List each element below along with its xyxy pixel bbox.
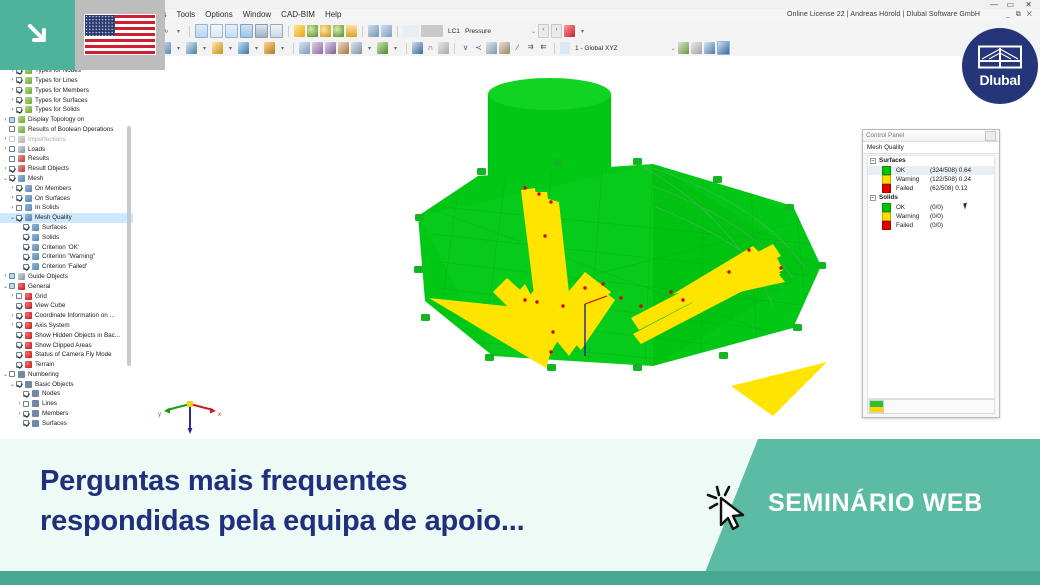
tree-expand-icon[interactable]: › bbox=[16, 401, 23, 407]
tree-checkbox[interactable] bbox=[16, 205, 22, 211]
tree-item-criterion-ok[interactable]: Criterion 'OK' bbox=[0, 242, 133, 252]
tree-item-label: Display Topology on bbox=[28, 116, 84, 123]
tree-checkbox[interactable] bbox=[23, 224, 29, 230]
toolbar-separator bbox=[288, 26, 289, 37]
load-case-dropdown-icon[interactable]: ⌄ bbox=[531, 28, 536, 35]
tree-checkbox[interactable] bbox=[23, 411, 29, 417]
grn-icon bbox=[18, 116, 25, 123]
dlubal-frame-icon bbox=[977, 45, 1023, 71]
heart-icon bbox=[25, 312, 32, 319]
tree-checkbox[interactable] bbox=[9, 146, 15, 152]
tree-item-label: Surfaces bbox=[42, 224, 67, 231]
tree-checkbox[interactable] bbox=[9, 136, 15, 142]
new-surface-dropdown-icon[interactable]: ▾ bbox=[251, 42, 262, 54]
heart-icon bbox=[25, 361, 32, 368]
tree-item-label: In Solids bbox=[35, 204, 59, 211]
legend-color-swatch bbox=[882, 203, 891, 212]
license-info: Online License 22 | Andreas Hörold | Dlu… bbox=[787, 11, 980, 18]
legend-row-value: (0/0) bbox=[930, 213, 943, 220]
pin-icon bbox=[18, 273, 25, 280]
new-solid-icon[interactable] bbox=[264, 42, 275, 54]
new-member-dropdown-icon[interactable]: ▾ bbox=[225, 42, 236, 54]
tree-item-types-for-surfaces[interactable]: ›Types for Surfaces bbox=[0, 95, 133, 105]
tree-item-in-solids[interactable]: ›In Solids bbox=[0, 203, 133, 213]
menu-item-options[interactable]: Options bbox=[205, 10, 233, 19]
tree-expand-icon[interactable]: › bbox=[9, 322, 16, 328]
click-cursor-icon bbox=[706, 481, 760, 535]
legend-color-swatch bbox=[882, 212, 891, 221]
tree-item-label: Results bbox=[28, 155, 49, 162]
tree-item-mesh[interactable]: ⌄Mesh bbox=[0, 174, 133, 184]
tree-item-imperfections[interactable]: ›Imperfections bbox=[0, 134, 133, 144]
mesh-icon bbox=[32, 234, 39, 241]
tree-checkbox[interactable] bbox=[16, 352, 22, 358]
surface-release-dropdown-icon[interactable]: ▾ bbox=[364, 42, 375, 54]
tree-item-label: Status of Camera Fly Mode bbox=[35, 351, 112, 358]
tree-item-label: Lines bbox=[42, 400, 57, 407]
next-loadcase-icon[interactable]: › bbox=[551, 24, 562, 38]
toolbar-primary-items: ∿ ▾ LC1 Pressure ⌄ ‹ › bbox=[160, 24, 588, 38]
loads-display-icon[interactable] bbox=[564, 25, 575, 37]
ucs-icon[interactable] bbox=[678, 42, 689, 54]
tree-item-status-of-camera-fly-mode[interactable]: Status of Camera Fly Mode bbox=[0, 350, 133, 360]
copy-icon[interactable] bbox=[486, 42, 497, 54]
snap-settings-icon[interactable] bbox=[704, 42, 715, 54]
new-line-icon[interactable] bbox=[186, 42, 197, 54]
num-icon bbox=[32, 420, 39, 427]
tree-item-numbering[interactable]: ⌄Numbering bbox=[0, 370, 133, 380]
legend-row-value: (0/0) bbox=[930, 204, 943, 211]
undo-dropdown-icon[interactable]: ▾ bbox=[173, 25, 184, 37]
grn-icon bbox=[25, 106, 32, 113]
red-icon bbox=[18, 155, 25, 162]
tree-item-axis-system[interactable]: ›Axis System bbox=[0, 321, 133, 331]
tree-collapse-icon[interactable]: ⌄ bbox=[2, 283, 9, 290]
tree-checkbox[interactable] bbox=[16, 381, 22, 387]
tree-checkbox[interactable] bbox=[9, 371, 15, 377]
tree-item-results-of-boolean-operations[interactable]: Results of Boolean Operations bbox=[0, 125, 133, 135]
legend-row-value: (122/508) 0.24 bbox=[930, 176, 971, 183]
move-icon[interactable] bbox=[499, 42, 510, 54]
legend-group-solids[interactable]: −Solids bbox=[868, 193, 994, 203]
new-solid-dropdown-icon[interactable]: ▾ bbox=[277, 42, 288, 54]
new-member-icon[interactable] bbox=[212, 42, 223, 54]
loads-icon[interactable] bbox=[294, 25, 305, 37]
heart-icon bbox=[25, 351, 32, 358]
parallel-icon[interactable]: ⇉ bbox=[525, 42, 536, 54]
mesh-icon bbox=[25, 195, 32, 202]
legend-row-value: (324/508) 0.64 bbox=[930, 167, 971, 174]
tree-item-label: Members bbox=[42, 410, 68, 417]
mesh-icon bbox=[25, 214, 32, 221]
load-case-label: LC1 bbox=[448, 28, 460, 35]
document-window-controls[interactable]: _ ⧉ ✕ bbox=[1006, 11, 1034, 19]
tree-item-label: Grid bbox=[35, 293, 47, 300]
toolbar-separator bbox=[554, 43, 555, 54]
tree-item-nodes[interactable]: Nodes bbox=[0, 389, 133, 399]
tree-checkbox[interactable] bbox=[16, 195, 22, 201]
banner-title: Perguntas mais frequentes respondidas pe… bbox=[40, 461, 720, 541]
tree-checkbox[interactable] bbox=[16, 185, 22, 191]
banner-bottom-bar bbox=[0, 571, 1040, 585]
flag-canton bbox=[85, 15, 115, 36]
num-icon bbox=[25, 381, 32, 388]
dimension-icon[interactable]: ≺ bbox=[473, 42, 484, 54]
tree-checkbox[interactable] bbox=[16, 313, 22, 319]
tree-item-label: Basic Objects bbox=[35, 381, 74, 388]
mesh-icon bbox=[32, 263, 39, 270]
tree-item-label: Types for Surfaces bbox=[35, 97, 88, 104]
print-icon[interactable] bbox=[255, 24, 268, 38]
tree-item-results[interactable]: Results bbox=[0, 154, 133, 164]
tree-item-label: Loads bbox=[28, 146, 45, 153]
tree-item-label: Types for Solids bbox=[35, 106, 80, 113]
control-panel-body: −SurfacesOK(324/508) 0.64Warning(122/508… bbox=[867, 155, 995, 399]
control-panel-title: Control Panel bbox=[866, 132, 904, 139]
nodal-support-icon[interactable] bbox=[312, 42, 323, 54]
tree-item-label: Nodes bbox=[42, 390, 60, 397]
mesh-icon bbox=[32, 253, 39, 260]
legend-row-solids-ok[interactable]: OK(0/0) bbox=[868, 203, 994, 212]
legend-color-swatch bbox=[882, 175, 891, 184]
zoom-window-icon[interactable] bbox=[346, 25, 357, 37]
tree-item-basic-objects[interactable]: ⌄Basic Objects bbox=[0, 379, 133, 389]
pan-view-icon[interactable] bbox=[333, 25, 344, 37]
tree-checkbox[interactable] bbox=[23, 244, 29, 250]
render-shaded-icon[interactable] bbox=[240, 24, 253, 38]
line-support-icon[interactable] bbox=[325, 42, 336, 54]
gray-icon bbox=[18, 136, 25, 143]
tree-item-show-clipped-areas[interactable]: Show Clipped Areas bbox=[0, 340, 133, 350]
tree-expand-icon[interactable]: › bbox=[9, 313, 16, 319]
legend-group-surfaces[interactable]: −Surfaces bbox=[868, 156, 994, 166]
tree-item-solids[interactable]: Solids bbox=[0, 232, 133, 242]
tree-item-general[interactable]: ⌄General bbox=[0, 281, 133, 291]
mesh-icon bbox=[18, 175, 25, 182]
legend-row-label: Failed bbox=[896, 185, 930, 192]
banner-right-label: SEMINÁRIO WEB bbox=[768, 489, 983, 518]
mesh-icon bbox=[25, 204, 32, 211]
heart-icon bbox=[25, 293, 32, 300]
tree-item-label: Criterion 'OK' bbox=[42, 244, 79, 251]
previous-loadcase-icon[interactable]: ‹ bbox=[538, 24, 549, 38]
tree-expand-icon[interactable]: › bbox=[2, 136, 9, 142]
page-setup-icon[interactable] bbox=[270, 24, 283, 38]
surface-release-icon[interactable] bbox=[351, 42, 362, 54]
legend-row-value: (0/0) bbox=[930, 222, 943, 229]
toolbar-separator bbox=[397, 26, 398, 37]
render-solid-icon[interactable] bbox=[195, 24, 208, 38]
boolean-icon[interactable] bbox=[438, 42, 449, 54]
tree-expand-icon[interactable]: › bbox=[9, 87, 16, 93]
control-panel-tab-mesh-quality[interactable]: Mesh Quality bbox=[863, 142, 999, 154]
control-panel-titlebar: Control Panel bbox=[863, 130, 999, 142]
nodal-load-dropdown-icon[interactable]: ▾ bbox=[390, 42, 401, 54]
loadcase-swatch-light bbox=[403, 25, 419, 37]
section-view-icon[interactable] bbox=[368, 25, 379, 37]
new-line-dropdown-icon[interactable]: ▾ bbox=[199, 42, 210, 54]
intersect-icon[interactable]: ∩ bbox=[425, 42, 436, 54]
tree-expand-icon[interactable]: › bbox=[2, 166, 9, 172]
tree-item-label: Result Objects bbox=[28, 165, 69, 172]
tree-item-guide-objects[interactable]: ›Guide Objects bbox=[0, 272, 133, 282]
legend-color-swatch bbox=[882, 166, 891, 175]
legend-row-value: (62/508) 0.12 bbox=[930, 185, 967, 192]
tree-item-label: Criterion 'Failed' bbox=[42, 263, 87, 270]
red-icon bbox=[18, 165, 25, 172]
tree-item-criterion-failed[interactable]: Criterion 'Failed' bbox=[0, 262, 133, 272]
navigator-scrollbar[interactable] bbox=[127, 126, 131, 366]
mesh-generate-icon[interactable] bbox=[412, 42, 423, 54]
legend-group-collapse-icon[interactable]: − bbox=[870, 158, 876, 164]
banner-title-line1: Perguntas mais frequentes bbox=[40, 461, 720, 501]
menu-item-help[interactable]: Help bbox=[325, 10, 341, 19]
tree-expand-icon[interactable]: › bbox=[9, 205, 16, 211]
tree-item-label: On Members bbox=[35, 185, 71, 192]
control-panel-pin-icon[interactable] bbox=[985, 131, 996, 141]
tree-checkbox[interactable] bbox=[9, 273, 15, 279]
tree-item-label: Results of Boolean Operations bbox=[28, 126, 113, 133]
tree-item-surfaces[interactable]: Surfaces bbox=[0, 223, 133, 233]
tree-item-label: Show Hidden Objects in Bac... bbox=[35, 332, 120, 339]
tree-expand-icon[interactable]: › bbox=[9, 185, 16, 191]
tree-checkbox[interactable] bbox=[23, 420, 29, 426]
tree-checkbox[interactable] bbox=[16, 107, 22, 113]
tree-item-label: Types for Lines bbox=[35, 77, 78, 84]
tree-checkbox[interactable] bbox=[16, 362, 22, 368]
new-surface-icon[interactable] bbox=[238, 42, 249, 54]
legend-group-collapse-icon[interactable]: − bbox=[870, 195, 876, 201]
tree-checkbox[interactable] bbox=[16, 342, 22, 348]
dlubal-logo-text: Dlubal bbox=[980, 72, 1021, 88]
menu-item-tools[interactable]: Tools bbox=[176, 10, 195, 19]
pin-icon bbox=[18, 146, 25, 153]
grn-icon bbox=[25, 97, 32, 104]
legend-row-label: Warning bbox=[896, 176, 930, 183]
tree-checkbox[interactable] bbox=[9, 156, 15, 162]
tree-checkbox[interactable] bbox=[16, 77, 22, 83]
num-icon bbox=[32, 390, 39, 397]
tree-item-label: Guide Objects bbox=[28, 273, 68, 280]
control-panel-tab-label: Mesh Quality bbox=[867, 144, 904, 151]
legend-row-label: Failed bbox=[896, 222, 930, 229]
dlubal-logo-badge: Dlubal bbox=[962, 28, 1038, 104]
window-close-button[interactable]: ✕ bbox=[1025, 1, 1032, 9]
tree-collapse-icon[interactable]: ⌄ bbox=[2, 175, 9, 182]
coordinate-system-value[interactable]: 1 - Global XYZ bbox=[575, 45, 618, 52]
num-icon bbox=[18, 371, 25, 378]
tree-checkbox[interactable] bbox=[23, 234, 29, 240]
rotate-view-icon[interactable] bbox=[320, 25, 331, 37]
tree-collapse-icon[interactable]: ⌄ bbox=[2, 371, 9, 378]
tree-item-grid[interactable]: ›Grid bbox=[0, 291, 133, 301]
tree-item-show-hidden-objects-in-bac[interactable]: Show Hidden Objects in Bac... bbox=[0, 330, 133, 340]
tree-expand-icon[interactable]: › bbox=[2, 117, 9, 123]
tree-checkbox[interactable] bbox=[16, 322, 22, 328]
legend-group-label: Surfaces bbox=[879, 157, 906, 164]
nodal-load-icon[interactable] bbox=[377, 42, 388, 54]
tree-checkbox[interactable] bbox=[9, 126, 15, 132]
control-panel-footer bbox=[867, 399, 995, 414]
axis-x-label: x bbox=[218, 412, 221, 418]
legend-row-surfaces-ok[interactable]: OK(324/508) 0.64 bbox=[868, 166, 994, 175]
axis-y-label: y bbox=[158, 412, 161, 418]
grn-icon bbox=[18, 126, 25, 133]
heart-icon bbox=[18, 283, 25, 290]
tree-checkbox[interactable] bbox=[16, 293, 22, 299]
tree-expand-icon[interactable]: › bbox=[9, 195, 16, 201]
tree-expand-icon[interactable]: › bbox=[9, 97, 16, 103]
num-icon bbox=[32, 410, 39, 417]
toolbar-secondary-items: ▾ ▾ ▾ ▾ ▾ ▾ ▾ ∩ ∨ ≺ ∕ bbox=[160, 41, 730, 55]
divide-icon[interactable]: ∕ bbox=[512, 42, 523, 54]
tree-item-label: Imperfections bbox=[28, 136, 66, 143]
mesh-icon bbox=[32, 224, 39, 231]
navigator-tree-rows: ›Special Objects›Types for Nodes›Types f… bbox=[0, 56, 133, 428]
toolbar-separator bbox=[454, 43, 455, 54]
tree-checkbox[interactable] bbox=[9, 117, 15, 123]
tree-item-display-topology-on[interactable]: ›Display Topology on bbox=[0, 115, 133, 125]
render-wireframe-icon[interactable] bbox=[210, 24, 223, 38]
heart-icon bbox=[25, 322, 32, 329]
tree-item-types-for-members[interactable]: ›Types for Members bbox=[0, 85, 133, 95]
tree-item-types-for-lines[interactable]: ›Types for Lines bbox=[0, 76, 133, 86]
navigator-tree[interactable]: ›Special Objects›Types for Nodes›Types f… bbox=[0, 56, 134, 439]
tree-checkbox[interactable] bbox=[16, 97, 22, 103]
tree-item-mesh-quality[interactable]: ⌄Mesh Quality bbox=[0, 213, 133, 223]
tree-item-result-objects[interactable]: ›Result Objects bbox=[0, 164, 133, 174]
coordinate-system-swatch bbox=[560, 42, 570, 54]
toolbar-separator bbox=[406, 43, 407, 54]
toolbar-separator bbox=[189, 26, 190, 37]
tree-checkbox[interactable] bbox=[23, 401, 29, 407]
clipping-plane-icon[interactable] bbox=[381, 25, 392, 37]
tree-item-surfaces[interactable]: Surfaces bbox=[0, 418, 133, 428]
tree-expand-icon[interactable]: › bbox=[9, 77, 16, 83]
object-snap-icon[interactable] bbox=[717, 41, 730, 55]
tree-checkbox[interactable] bbox=[9, 175, 15, 181]
tree-item-lines[interactable]: ›Lines bbox=[0, 399, 133, 409]
mesh-icon bbox=[32, 244, 39, 251]
down-right-arrow-icon bbox=[26, 22, 52, 48]
tree-collapse-icon[interactable]: ⌄ bbox=[9, 381, 16, 388]
control-panel[interactable]: Control Panel Mesh Quality −SurfacesOK(3… bbox=[862, 129, 1000, 418]
menu-item-cad-bim[interactable]: CAD-BIM bbox=[281, 10, 315, 19]
tree-item-label: Solids bbox=[42, 234, 59, 241]
heart-icon bbox=[25, 332, 32, 339]
tree-expand-icon[interactable]: › bbox=[9, 107, 16, 113]
tree-item-on-surfaces[interactable]: ›On Surfaces bbox=[0, 193, 133, 203]
support-icon[interactable] bbox=[299, 42, 310, 54]
tree-expand-icon[interactable]: › bbox=[2, 146, 9, 152]
loads-dropdown-icon[interactable]: ▾ bbox=[577, 25, 588, 37]
loadcase-swatch-gray bbox=[421, 25, 443, 37]
legend-group-label: Solids bbox=[879, 194, 898, 201]
align-icon[interactable]: ⇇ bbox=[538, 42, 549, 54]
legend-row-label: Warning bbox=[896, 213, 930, 220]
tree-checkbox[interactable] bbox=[16, 332, 22, 338]
heart-icon bbox=[25, 342, 32, 349]
window-maximize-button[interactable]: ▭ bbox=[1006, 1, 1014, 9]
legend-row-label: OK bbox=[896, 167, 930, 174]
tree-checkbox[interactable] bbox=[9, 283, 15, 289]
color-scale-icon[interactable] bbox=[869, 400, 884, 413]
tree-item-criterion-warning[interactable]: Criterion "Warning" bbox=[0, 252, 133, 262]
tree-item-label: Numbering bbox=[28, 371, 59, 378]
tree-item-terrain[interactable]: Terrain bbox=[0, 360, 133, 370]
tree-item-label: View Cube bbox=[35, 302, 65, 309]
tree-item-label: Surfaces bbox=[42, 420, 67, 427]
legend-row-label: OK bbox=[896, 204, 930, 211]
tree-expand-icon[interactable]: › bbox=[16, 411, 23, 417]
member-hinge-icon[interactable] bbox=[338, 42, 349, 54]
tree-item-label: Show Clipped Areas bbox=[35, 342, 92, 349]
tree-checkbox[interactable] bbox=[23, 254, 29, 260]
tree-checkbox[interactable] bbox=[23, 264, 29, 270]
tree-checkbox[interactable] bbox=[16, 87, 22, 93]
mesh-quality-legend: −SurfacesOK(324/508) 0.64Warning(122/508… bbox=[868, 156, 994, 230]
tree-item-coordinate-information-on[interactable]: ›Coordinate Information on ... bbox=[0, 311, 133, 321]
angle-icon[interactable]: ∨ bbox=[460, 42, 471, 54]
menu-item-list: sults Tools Options Window CAD-BIM Help bbox=[150, 10, 341, 19]
menu-item-window[interactable]: Window bbox=[243, 10, 271, 19]
legend-color-swatch bbox=[882, 221, 891, 230]
tree-item-label: Terrain bbox=[35, 361, 54, 368]
tree-item-label: General bbox=[28, 283, 50, 290]
tree-checkbox[interactable] bbox=[23, 391, 29, 397]
render-transparent-icon[interactable] bbox=[225, 24, 238, 38]
heart-icon bbox=[25, 302, 32, 309]
tree-expand-icon[interactable]: › bbox=[2, 273, 9, 279]
legend-row-solids-warning[interactable]: Warning(0/0) bbox=[868, 212, 994, 221]
tree-checkbox[interactable] bbox=[16, 215, 22, 221]
coordinate-axis-triad: y x bbox=[155, 390, 225, 436]
banner-title-line2: respondidas pela equipa de apoio... bbox=[40, 501, 720, 541]
tree-item-label: Criterion "Warning" bbox=[42, 253, 95, 260]
legend-row-surfaces-warning[interactable]: Warning(122/508) 0.24 bbox=[868, 175, 994, 184]
zoom-icon[interactable] bbox=[307, 25, 318, 37]
tree-item-label: Mesh bbox=[28, 175, 43, 182]
window-minimize-button[interactable]: — bbox=[990, 1, 998, 9]
legend-row-surfaces-failed[interactable]: Failed(62/508) 0.12 bbox=[868, 184, 994, 193]
tree-item-view-cube[interactable]: View Cube bbox=[0, 301, 133, 311]
us-flag-icon bbox=[84, 14, 156, 55]
promo-banner: Perguntas mais frequentes respondidas pe… bbox=[0, 439, 1040, 585]
tree-expand-icon[interactable]: › bbox=[9, 293, 16, 299]
tree-item-members[interactable]: ›Members bbox=[0, 409, 133, 419]
toolbar-separator bbox=[362, 26, 363, 37]
load-case-value[interactable]: Pressure bbox=[465, 28, 491, 35]
legend-row-solids-failed[interactable]: Failed(0/0) bbox=[868, 221, 994, 230]
toolbar-separator bbox=[293, 43, 294, 54]
work-plane-icon[interactable] bbox=[691, 42, 702, 54]
tree-item-label: Mesh Quality bbox=[35, 214, 72, 221]
tree-checkbox[interactable] bbox=[9, 166, 15, 172]
tree-checkbox[interactable] bbox=[16, 303, 22, 309]
num-icon bbox=[32, 400, 39, 407]
new-node-dropdown-icon[interactable]: ▾ bbox=[173, 42, 184, 54]
tree-item-loads[interactable]: ›Loads bbox=[0, 144, 133, 154]
tree-item-label: Coordinate Information on ... bbox=[35, 312, 115, 319]
tree-collapse-icon[interactable]: ⌄ bbox=[9, 214, 16, 221]
grn-icon bbox=[25, 87, 32, 94]
tree-item-types-for-solids[interactable]: ›Types for Solids bbox=[0, 105, 133, 115]
coordinate-system-dropdown-icon[interactable]: ⌄ bbox=[671, 45, 676, 52]
tree-item-on-members[interactable]: ›On Members bbox=[0, 183, 133, 193]
grn-icon bbox=[25, 77, 32, 84]
tree-item-label: On Surfaces bbox=[35, 195, 70, 202]
tree-item-label: Axis System bbox=[35, 322, 70, 329]
